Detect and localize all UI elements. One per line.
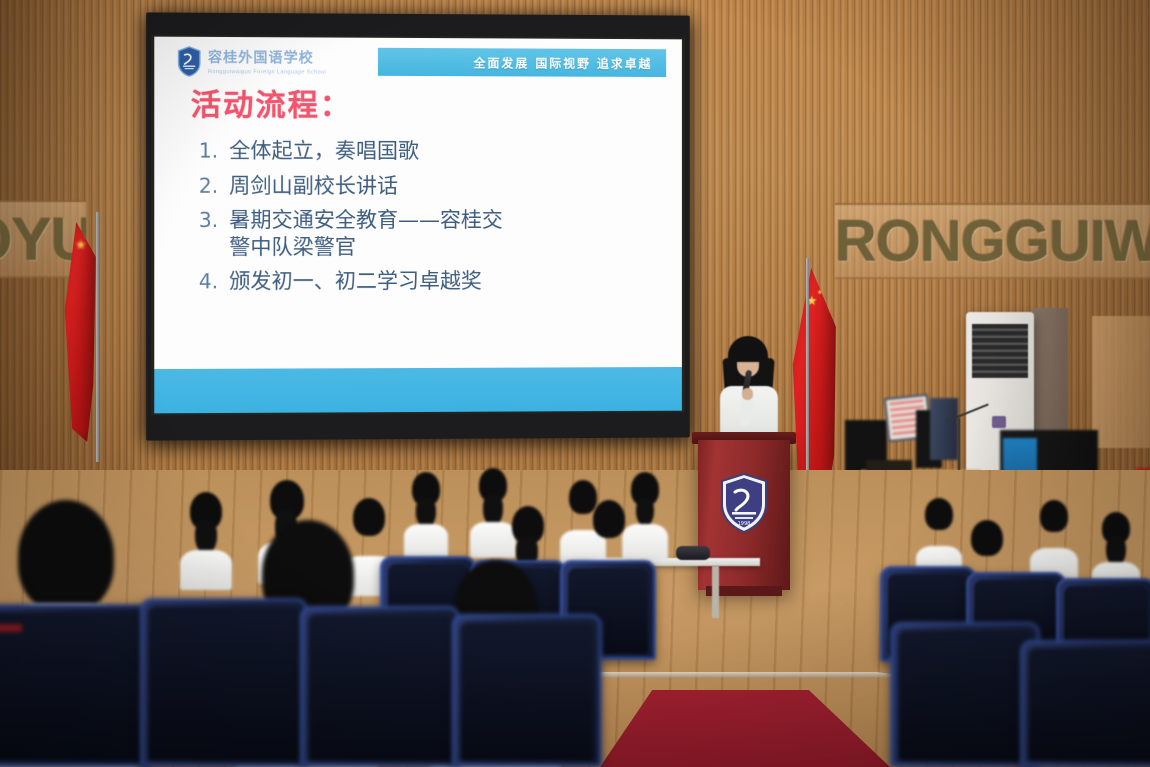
- slide-footer-bar: [154, 367, 682, 413]
- agenda-list: 1. 全体起立，奏唱国歌 2. 周剑山副校长讲话 3. 暑期交通安全教育——容桂…: [199, 138, 682, 295]
- slide-motto-banner: 全面发展 国际视野 追求卓越: [378, 48, 666, 77]
- school-name-cn: 容桂外国语学校: [208, 47, 326, 68]
- list-item: 4. 颁发初一、初二学习卓越奖: [199, 269, 682, 295]
- ac-grille: [972, 324, 1028, 378]
- person-ponytail: [636, 498, 654, 526]
- person-head: [1040, 500, 1068, 532]
- list-item: 3. 暑期交通安全教育——容桂交 警中队梁警官: [199, 208, 682, 261]
- ac-display-panel: [992, 416, 1006, 428]
- seat-pad: [0, 612, 142, 761]
- presentation-slide: 容桂外国语学校 Rongguiwaiguo Foreign Language S…: [154, 37, 682, 414]
- list-item-number: 4.: [199, 270, 229, 295]
- slide-title: 活动流程：: [191, 89, 682, 124]
- person-head: [971, 520, 1003, 556]
- presenter: [716, 336, 780, 446]
- auditorium-seat: [140, 598, 308, 767]
- person-head: [925, 498, 953, 530]
- seat-pad: [460, 622, 594, 761]
- auditorium-seat: [890, 622, 1040, 767]
- projection-screen: 容桂外国语学校 Rongguiwaiguo Foreign Language S…: [146, 12, 690, 440]
- school-logo-text: 容桂外国语学校 Rongguiwaiguo Foreign Language S…: [208, 46, 326, 76]
- school-logo: 容桂外国语学校 Rongguiwaiguo Foreign Language S…: [177, 46, 327, 78]
- presenter-hand: [742, 388, 753, 400]
- list-item-text: 周剑山副校长讲话: [229, 173, 398, 199]
- equipment-tower: [930, 398, 958, 460]
- list-item-number: 2.: [199, 173, 229, 198]
- person-head: [18, 500, 114, 612]
- auditorium-seat: [300, 606, 460, 767]
- list-item-number: 3.: [199, 208, 229, 233]
- school-crest-emblem: 1998: [719, 472, 769, 534]
- list-item-body: 周剑山副校长讲话: [229, 173, 398, 199]
- seat-pad: [148, 606, 300, 761]
- school-name-en: Rongguiwaiguo Foreign Language School: [208, 69, 326, 76]
- auditorium-scene: OYU RONGGUIWAIGU 容桂外国语: [0, 0, 1150, 767]
- seat-pad: [308, 614, 452, 761]
- seat-number-tag: [0, 624, 22, 632]
- list-item-body: 暑期交通安全教育——容桂交 警中队梁警官: [229, 208, 503, 260]
- slide-header: 容桂外国语学校 Rongguiwaiguo Foreign Language S…: [154, 37, 682, 87]
- list-item-text: 暑期交通安全教育——容桂交: [229, 208, 503, 234]
- person-uniform: [404, 524, 448, 560]
- wall-sign-right: RONGGUIWAIGU: [835, 203, 1150, 279]
- wall-panel-right: [1092, 316, 1150, 448]
- audience-member: [404, 472, 448, 552]
- list-item-text: 全体起立，奏唱国歌: [229, 139, 419, 165]
- wall-sign-right-text: RONGGUIWAIGU: [835, 208, 1150, 275]
- svg-text:1998: 1998: [738, 521, 751, 527]
- shield-crest-icon: [177, 46, 202, 77]
- person-uniform: [180, 550, 232, 590]
- auditorium-seat: [0, 604, 150, 767]
- auditorium-seat: [1020, 640, 1150, 767]
- list-item-text: 颁发初一、初二学习卓越奖: [229, 269, 482, 295]
- aisle-step-edge: [560, 672, 920, 678]
- list-item-body: 全体起立，奏唱国歌: [229, 139, 419, 165]
- seat-pad: [898, 630, 1032, 761]
- slide-motto-text: 全面发展 国际视野 追求卓越: [474, 54, 653, 72]
- list-item: 1. 全体起立，奏唱国歌: [199, 138, 682, 165]
- person-head: [593, 500, 625, 538]
- audience-member: [180, 492, 232, 584]
- list-item-number: 1.: [199, 138, 229, 163]
- person-ponytail: [195, 520, 217, 554]
- list-item: 2. 周剑山副校长讲话: [199, 173, 682, 199]
- desk-object: [676, 546, 710, 560]
- seat-pad: [1028, 648, 1150, 761]
- auditorium-seat: [452, 614, 602, 767]
- list-item-text-cont: 警中队梁警官: [229, 235, 503, 261]
- desk-leg: [712, 566, 719, 618]
- flagpole-left: [96, 212, 99, 462]
- list-item-body: 颁发初一、初二学习卓越奖: [229, 269, 482, 295]
